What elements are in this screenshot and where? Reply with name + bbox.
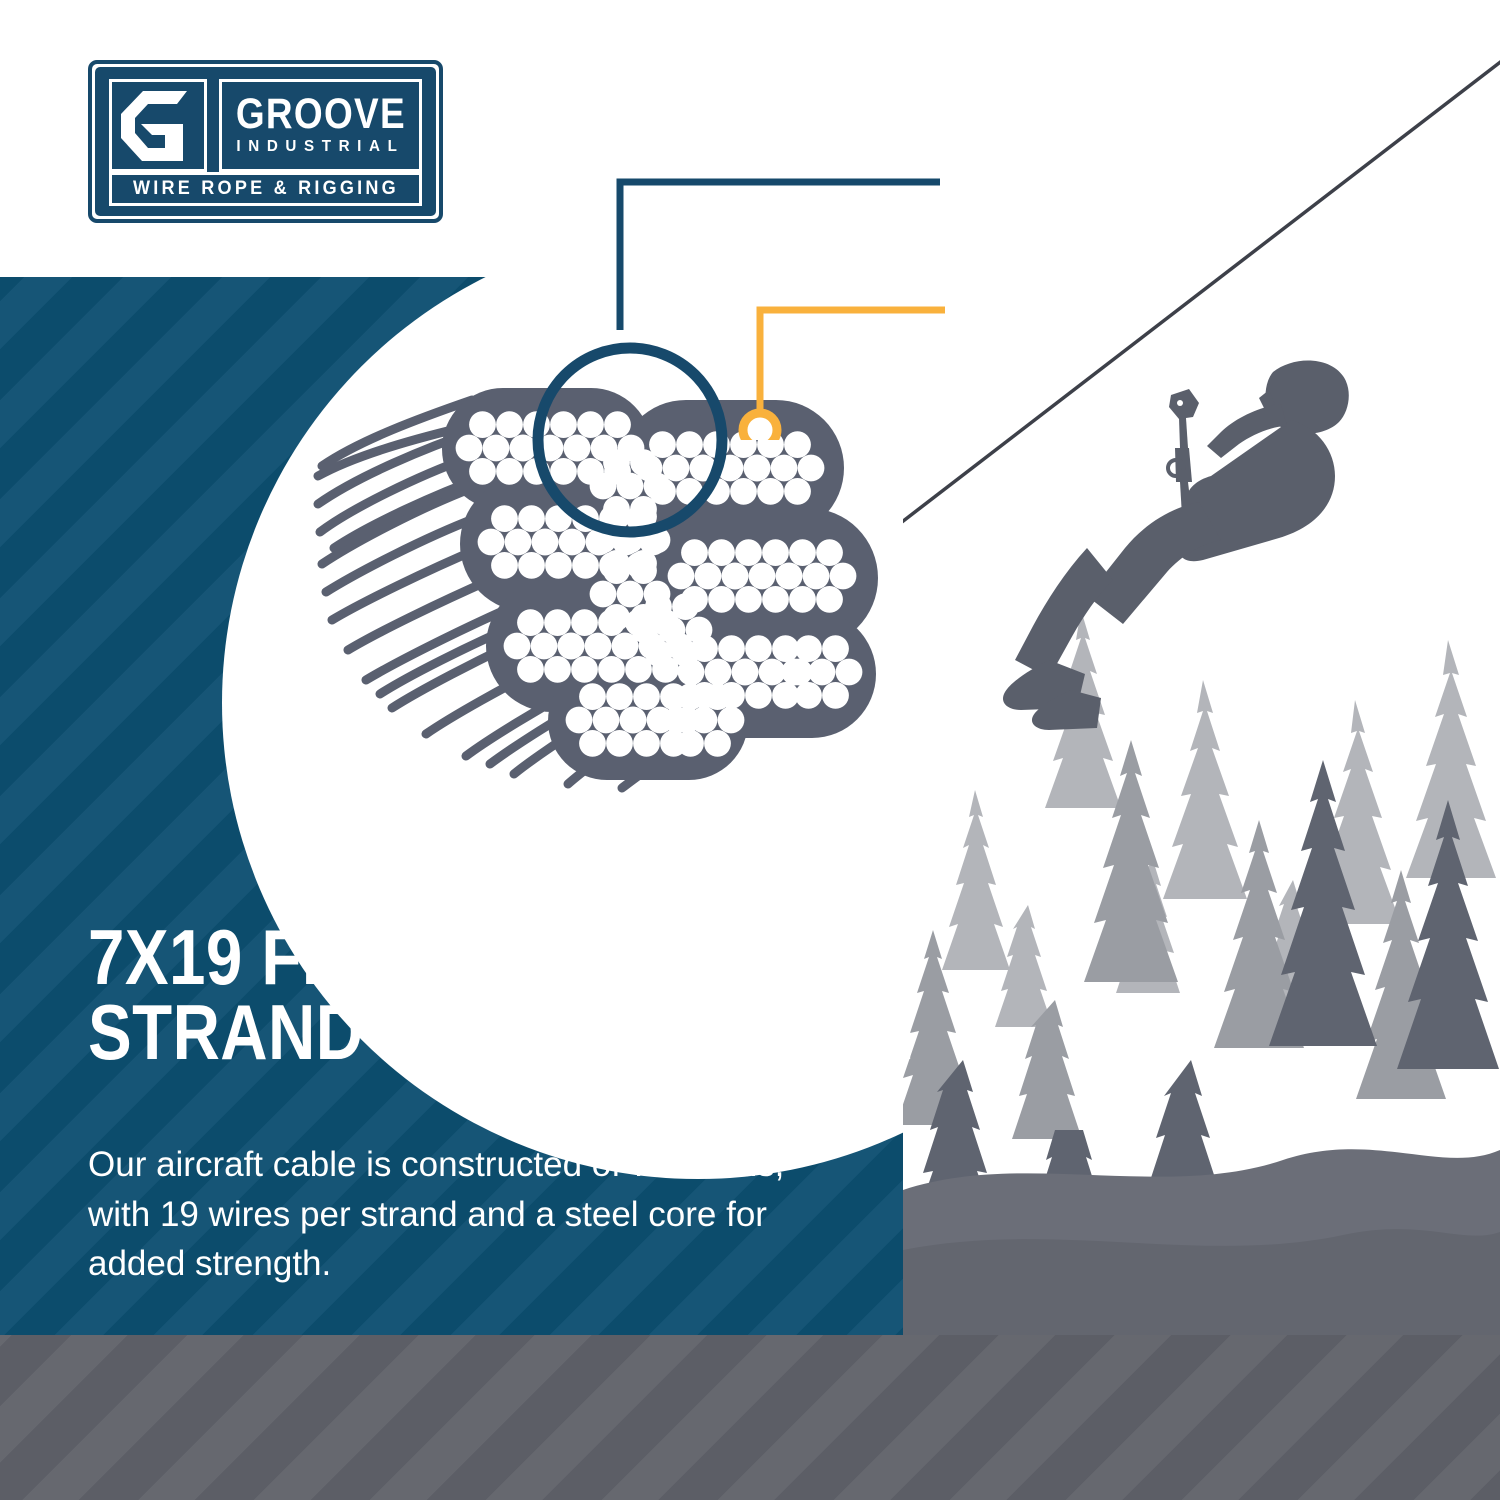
page-title: 7X19 FLEXIBLE STRAND CONSTRUCTION: [88, 920, 878, 1070]
brand-logo[interactable]: GROOVE INDUSTRIAL WIRE ROPE & RIGGING: [88, 60, 443, 223]
diagonal-texture-bottom: [0, 1335, 1500, 1500]
logo-tagline: WIRE ROPE & RIGGING: [133, 178, 399, 200]
headline-line-1: 7X19 FLEXIBLE: [88, 920, 752, 995]
logo-inner-fill: GROOVE INDUSTRIAL WIRE ROPE & RIGGING: [95, 67, 436, 216]
logo-brand-sub: INDUSTRIAL: [236, 138, 404, 156]
orange-connector-line: [760, 310, 945, 430]
bottom-gray-band: [0, 1335, 1500, 1500]
orange-ring-marker-icon: [743, 413, 777, 440]
logo-tagline-box: WIRE ROPE & RIGGING: [109, 172, 422, 206]
callout-connectors: [600, 150, 1000, 440]
body-description: Our aircraft cable is constructed of 7 s…: [88, 1140, 788, 1289]
logo-brand-name: GROOVE: [235, 95, 405, 135]
headline-line-2: STRAND CONSTRUCTION: [88, 995, 752, 1070]
logo-wordmark-box: GROOVE INDUSTRIAL: [219, 79, 422, 172]
infographic-canvas: 7 STRANDS 19 WIRES PER STRAND HOT DIP GA…: [0, 0, 1500, 1500]
groove-g-monogram-icon: [121, 91, 195, 161]
zipline-rider-icon: [1003, 360, 1349, 730]
